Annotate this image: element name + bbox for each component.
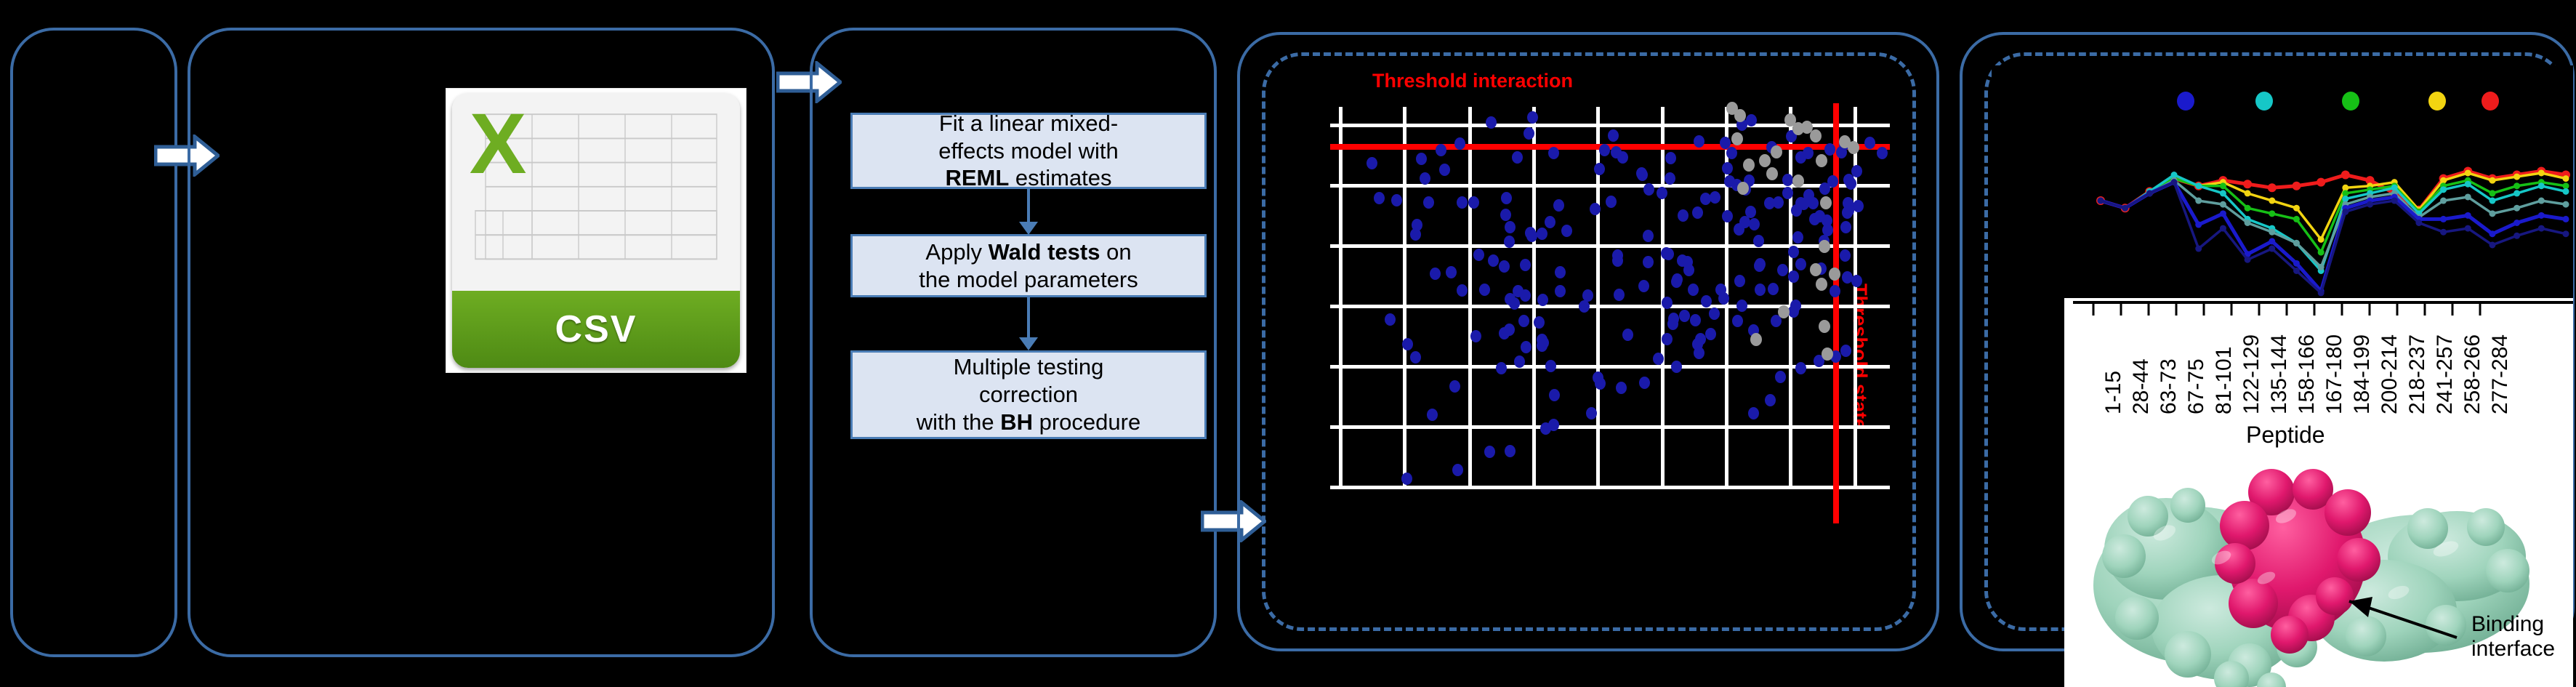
scatter-point-significant — [1639, 377, 1650, 389]
scatter-point-significant — [1537, 340, 1547, 352]
peptide-series-point — [2465, 181, 2471, 188]
peptide-y-tick-label: 0.0 — [2000, 282, 2032, 309]
scatter-point-significant — [1790, 300, 1801, 312]
peptide-series-point — [2195, 222, 2202, 228]
scatter-point-significant — [1616, 382, 1627, 394]
peptide-series-point — [2367, 201, 2373, 208]
scatter-point-significant — [1430, 268, 1441, 280]
scatter-point-significant — [1504, 324, 1515, 336]
scatter-point-significant — [1657, 187, 1667, 199]
scatter-point-significant — [1521, 341, 1531, 353]
scatter-point-significant — [1777, 264, 1788, 276]
peptide-series-point — [2269, 198, 2275, 204]
flow-step-wald-tests[interactable]: Apply Wald tests onthe model parameters — [850, 234, 1207, 297]
peptide-series-point — [2341, 171, 2350, 180]
peptide-series-point — [2513, 182, 2520, 189]
scatter-point-significant — [1614, 289, 1625, 301]
scatter-point-nonsignificant — [1792, 174, 1804, 188]
scatter-point-nonsignificant — [1737, 182, 1749, 195]
scatter-point-significant — [1734, 223, 1744, 236]
peptide-series-point — [2440, 229, 2447, 236]
peptide-series-point — [2293, 268, 2300, 274]
peptide-x-axis — [2064, 298, 2573, 327]
peptide-series-point — [2195, 198, 2202, 204]
peptide-tick-label: 200-214 — [2378, 334, 2402, 414]
flow-step-bh-correction[interactable]: Multiple testingcorrectionwith the BH pr… — [850, 350, 1207, 439]
peptide-series-point — [2146, 190, 2153, 196]
peptide-series-point — [2269, 229, 2275, 236]
scatter-point-significant — [1732, 315, 1743, 327]
scatter-point-significant — [1479, 284, 1490, 296]
scatter-point-significant — [1454, 137, 1465, 150]
csv-card: X CSV — [452, 93, 740, 368]
scatter-point-significant — [1864, 137, 1875, 149]
scatter-point-significant — [1683, 264, 1694, 276]
scatter-point-significant — [1446, 266, 1457, 278]
peptide-series-point — [2293, 205, 2300, 212]
scatter-point-nonsignificant — [1810, 129, 1822, 142]
gridline-v — [1403, 107, 1406, 489]
scatter-point-significant — [1840, 345, 1851, 357]
peptide-series-point — [2245, 220, 2251, 226]
scatter-point-nonsignificant — [1810, 263, 1822, 276]
peptide-tick-label: 184-199 — [2350, 334, 2375, 414]
scatter-point-significant — [1653, 353, 1664, 365]
peptide-inset-panel: 1-1528-4463-7367-7581-101122-129135-1441… — [2064, 298, 2573, 687]
peptide-tick-label: 258-266 — [2460, 334, 2485, 414]
peptide-axis-title: Peptide — [2246, 422, 2325, 449]
scatter-point-significant — [1734, 275, 1745, 287]
scatter-point-significant — [1412, 219, 1422, 231]
flow-connector-1 — [1027, 189, 1030, 225]
scatter-point-significant — [1853, 200, 1864, 212]
peptide-series-point — [2342, 209, 2348, 215]
peptide-series-point — [2245, 205, 2251, 212]
scatter-point-significant — [1705, 328, 1716, 340]
peptide-series-point — [2440, 198, 2447, 204]
scatter-point-nonsignificant — [1743, 158, 1755, 172]
scatter-point-significant — [1427, 409, 1438, 421]
flow-step-bh-correction-text: Multiple testingcorrectionwith the BH pr… — [917, 353, 1140, 435]
peptide-series-point — [2293, 216, 2300, 222]
gridline-v — [1339, 107, 1343, 489]
scatter-point-significant — [1638, 280, 1649, 292]
scatter-point-significant — [1518, 315, 1529, 327]
peptide-series-point — [2489, 190, 2495, 196]
peptide-series-point — [2220, 210, 2226, 217]
scatter-point-significant — [1505, 445, 1516, 457]
peptide-series-point — [2245, 190, 2251, 196]
scatter-point-nonsignificant — [1819, 320, 1830, 333]
peptide-series-point — [2098, 198, 2104, 204]
scatter-point-significant — [1599, 144, 1610, 156]
scatter-point-significant — [1643, 183, 1654, 196]
scatter-point-significant — [1468, 196, 1479, 209]
peptide-series-point — [2318, 236, 2325, 243]
scatter-point-significant — [1420, 172, 1430, 185]
csv-format-band: CSV — [452, 291, 740, 368]
scatter-point-significant — [1775, 371, 1786, 383]
peptide-series-point — [2513, 205, 2520, 212]
scatter-point-nonsignificant — [1819, 240, 1830, 253]
peptide-tick-label: 158-166 — [2295, 334, 2319, 414]
scatter-point-significant — [1374, 192, 1385, 204]
scatter-point-significant — [1555, 285, 1566, 297]
scatter-point-significant — [1527, 111, 1538, 124]
scatter-point-significant — [1792, 231, 1803, 244]
peptide-series-point — [2538, 212, 2545, 219]
peptide-series-point — [2220, 201, 2226, 208]
peptide-series-point — [2465, 193, 2471, 200]
scatter-point-significant — [1520, 259, 1531, 271]
peptide-tick-label: 28-44 — [2129, 358, 2154, 414]
scatter-plot: Threshold interaction Threshold state — [1330, 65, 1890, 531]
peptide-series-point — [2489, 241, 2495, 248]
scatter-point-significant — [1385, 313, 1396, 326]
scatter-point-significant — [1692, 206, 1703, 219]
peptide-series-point — [2489, 177, 2495, 184]
peptide-series-point — [2220, 190, 2226, 196]
scatter-point-significant — [1586, 407, 1597, 419]
scatter-point-nonsignificant — [1759, 154, 1771, 167]
scatter-point-significant — [1423, 196, 1434, 209]
threshold-state-line — [1833, 103, 1839, 523]
scatter-point-significant — [1795, 151, 1806, 164]
scatter-point-significant — [1622, 329, 1633, 341]
scatter-point-significant — [1410, 351, 1421, 363]
scatter-point-significant — [1488, 254, 1499, 267]
scatter-point-significant — [1715, 284, 1726, 296]
scatter-point-significant — [1582, 289, 1593, 302]
peptide-tick-label: 122-129 — [2239, 334, 2264, 414]
peptide-series-point — [2465, 169, 2471, 176]
scatter-point-significant — [1788, 270, 1799, 283]
peptide-series-point — [2465, 225, 2471, 232]
scatter-point-significant — [1661, 247, 1672, 260]
scatter-point-significant — [1484, 446, 1495, 458]
peptide-series-point — [2195, 182, 2202, 189]
scatter-point-nonsignificant — [1734, 109, 1746, 122]
scatter-point-significant — [1452, 464, 1463, 476]
flow-connector-1-arrowhead — [1019, 222, 1038, 235]
scatter-point-nonsignificant — [1750, 333, 1762, 346]
scatter-point-significant — [1667, 318, 1678, 330]
peptide-tick-label: 63-73 — [2157, 358, 2181, 414]
gridline-h — [1330, 486, 1890, 489]
scatter-point-significant — [1496, 362, 1507, 374]
binding-interface-line2: interface — [2471, 637, 2555, 662]
csv-format-label: CSV — [555, 308, 637, 351]
scatter-point-significant — [1671, 361, 1682, 373]
scatter-point-nonsignificant — [1848, 141, 1859, 154]
peptide-series-point — [2513, 190, 2520, 196]
scatter-point-significant — [1840, 221, 1851, 233]
gridline-v — [1468, 107, 1472, 489]
scatter-point-significant — [1690, 314, 1701, 326]
scatter-point-significant — [1549, 389, 1560, 401]
scatter-point-significant — [1526, 230, 1537, 242]
scatter-point-significant — [1473, 249, 1484, 261]
peptide-series-point — [2489, 230, 2495, 237]
scatter-point-significant — [1665, 152, 1676, 164]
scatter-point-significant — [1548, 147, 1559, 159]
scatter-point-significant — [1765, 394, 1776, 406]
peptide-series-point — [2513, 233, 2520, 239]
scatter-point-significant — [1803, 189, 1814, 201]
flow-step-fit-model-text: Fit a linear mixed-effects model withREM… — [938, 110, 1119, 192]
scatter-point-significant — [1726, 147, 1737, 159]
peptide-series-point — [2563, 201, 2569, 208]
scatter-point-significant — [1594, 163, 1605, 175]
scatter-point-nonsignificant — [1766, 167, 1778, 180]
peptide-series-point — [2268, 183, 2277, 192]
scatter-point-significant — [1755, 284, 1766, 296]
peptide-series-point — [2563, 188, 2569, 195]
peptide-series-point — [2440, 216, 2447, 222]
scatter-point-significant — [1617, 151, 1628, 164]
scatter-point-significant — [1795, 258, 1806, 270]
scatter-point-significant — [1534, 316, 1545, 329]
gridline-h — [1330, 244, 1890, 248]
scatter-point-significant — [1548, 419, 1559, 431]
peptide-series-point — [2513, 174, 2520, 180]
peptide-series-point — [2465, 212, 2471, 219]
peptide-series-point — [2489, 198, 2495, 204]
gridline-h — [1330, 305, 1890, 308]
scatter-point-significant — [1748, 407, 1759, 419]
scatter-point-significant — [1637, 169, 1648, 181]
peptide-series-point — [2269, 246, 2275, 252]
peptide-series-point — [2171, 179, 2178, 185]
scatter-point-significant — [1561, 225, 1572, 237]
scatter-point-significant — [1840, 249, 1851, 262]
csv-file-icon: X CSV — [446, 89, 746, 372]
peptide-series-point — [2292, 182, 2301, 190]
peptide-series-point — [2538, 169, 2545, 176]
scatter-point-significant — [1520, 289, 1531, 302]
peptide-series-point — [2243, 180, 2252, 188]
scatter-point-significant — [1701, 295, 1712, 308]
scatter-point-significant — [1500, 209, 1511, 221]
gridline-h — [1330, 184, 1890, 188]
peptide-series-point — [2245, 257, 2251, 263]
peptide-series-point — [2538, 182, 2545, 189]
scatter-point-significant — [1553, 199, 1564, 212]
scatter-point-significant — [1439, 164, 1450, 176]
scatter-point-significant — [1367, 157, 1377, 169]
scatter-point-significant — [1505, 221, 1516, 233]
scatter-point-significant — [1842, 271, 1853, 284]
scatter-point-significant — [1501, 192, 1512, 204]
peptide-series-point — [2122, 205, 2128, 212]
flow-connector-2 — [1027, 297, 1030, 341]
scatter-point-significant — [1643, 256, 1654, 268]
scatter-point-significant — [1457, 196, 1468, 209]
scatter-point-significant — [1606, 196, 1617, 208]
scatter-point-significant — [1590, 203, 1601, 215]
scatter-point-significant — [1795, 362, 1806, 374]
peptide-tick-label: 241-257 — [2433, 334, 2458, 414]
scatter-point-significant — [1512, 151, 1523, 164]
peptide-series-point — [2513, 220, 2520, 226]
scatter-point-significant — [1545, 216, 1555, 228]
scatter-point-significant — [1672, 273, 1683, 286]
scatter-point-significant — [1710, 191, 1720, 204]
scatter-point-significant — [1402, 338, 1413, 350]
scatter-point-significant — [1514, 355, 1525, 368]
peptide-series-point — [2415, 220, 2422, 226]
peptide-series-point — [2440, 186, 2447, 193]
peptide-tick-label: 1-15 — [2101, 371, 2126, 414]
peptide-series-point — [2538, 225, 2545, 232]
scatter-point-significant — [1665, 172, 1675, 185]
scatter-point-nonsignificant — [1816, 154, 1827, 167]
scatter-point-significant — [1843, 204, 1854, 217]
peptide-tick-label: 277-284 — [2488, 334, 2513, 414]
flow-step-fit-model[interactable]: Fit a linear mixed-effects model withREM… — [850, 113, 1207, 189]
scatter-point-nonsignificant — [1816, 278, 1827, 291]
excel-x-glyph: X — [470, 101, 527, 187]
binding-interface-annotation: Binding interface — [2471, 612, 2555, 661]
scatter-point-nonsignificant — [1731, 132, 1743, 145]
scatter-point-significant — [1722, 210, 1733, 222]
peptide-series-point — [2269, 238, 2275, 244]
scatter-point-significant — [1470, 330, 1481, 342]
peptide-series-point — [2391, 198, 2398, 204]
peptide-series-point — [2195, 246, 2202, 252]
scatter-point-significant — [1608, 129, 1619, 142]
peptide-series-point — [2220, 225, 2226, 232]
scatter-point-significant — [1457, 284, 1468, 297]
scatter-point-significant — [1416, 153, 1427, 165]
scatter-point-significant — [1524, 127, 1534, 140]
peptide-series-point — [2563, 230, 2569, 237]
scatter-point-significant — [1694, 135, 1704, 148]
scatter-point-significant — [1749, 218, 1760, 230]
scatter-point-nonsignificant — [1771, 145, 1782, 158]
scatter-point-significant — [1505, 293, 1516, 305]
scatter-point-significant — [1709, 308, 1720, 320]
scatter-point-nonsignificant — [1829, 268, 1840, 281]
scatter-point-significant — [1755, 258, 1766, 270]
panel-1-empty — [10, 28, 177, 657]
peptide-series-point — [2269, 210, 2275, 217]
flow-step-wald-tests-text: Apply Wald tests onthe model parameters — [919, 238, 1138, 294]
gridline-h — [1330, 425, 1890, 429]
scatter-point-significant — [1819, 182, 1830, 195]
scatter-point-significant — [1555, 266, 1566, 278]
scatter-point-significant — [1679, 310, 1690, 322]
scatter-point-significant — [1662, 333, 1673, 345]
peptide-series-point — [2563, 175, 2569, 182]
peptide-series-point — [2318, 289, 2325, 296]
scatter-point-significant — [1593, 371, 1603, 384]
scatter-point-significant — [1436, 144, 1446, 156]
peptide-series-point — [2293, 240, 2300, 246]
peptide-tick-label: 67-75 — [2184, 358, 2209, 414]
scatter-point-significant — [1695, 333, 1706, 345]
peptide-tick-label: 167-180 — [2322, 334, 2347, 414]
scatter-point-significant — [1401, 473, 1412, 485]
scatter-point-significant — [1746, 114, 1757, 126]
peptide-tick-label: 81-101 — [2212, 347, 2237, 414]
scatter-point-significant — [1736, 300, 1747, 312]
peptide-series-point — [2563, 216, 2569, 222]
peptide-series-point — [2220, 182, 2226, 189]
scatter-point-significant — [1579, 300, 1590, 313]
scatter-point-nonsignificant — [1778, 305, 1790, 318]
peptide-series-point — [2538, 198, 2545, 204]
scatter-point-significant — [1722, 162, 1733, 174]
scatter-point-significant — [1724, 175, 1735, 188]
binding-interface-line1: Binding — [2471, 612, 2555, 637]
workflow-figure: X CSV Fit a linear mixed-effects model w… — [0, 0, 2576, 687]
scatter-point-significant — [1678, 209, 1689, 222]
scatter-point-nonsignificant — [1822, 347, 1833, 361]
scatter-point-significant — [1851, 275, 1862, 287]
peptide-tick-label: 135-144 — [2267, 334, 2292, 414]
scatter-point-significant — [1449, 380, 1460, 393]
peptide-series-point — [2293, 260, 2300, 267]
flow-connector-2-arrowhead — [1019, 337, 1038, 350]
peptide-series-point — [2317, 178, 2325, 187]
scatter-point-significant — [1499, 260, 1510, 273]
gridline-v — [1789, 107, 1792, 489]
scatter-point-significant — [1391, 194, 1402, 206]
peptide-series-point — [2318, 264, 2325, 270]
scatter-point-significant — [1643, 230, 1654, 242]
gridline-v — [1532, 107, 1536, 489]
peptide-tick-label: 218-237 — [2405, 334, 2430, 414]
scatter-threshold-interaction-label: Threshold interaction — [1372, 70, 1573, 92]
scatter-point-significant — [1764, 197, 1775, 209]
scatter-point-significant — [1504, 236, 1515, 248]
scatter-point-significant — [1537, 228, 1547, 240]
scatter-point-significant — [1768, 283, 1779, 295]
scatter-point-significant — [1545, 360, 1556, 372]
scatter-point-nonsignificant — [1820, 196, 1832, 209]
peptide-series-point — [2489, 210, 2495, 217]
gridline-v — [1853, 107, 1857, 489]
peptide-series-point — [2318, 249, 2325, 256]
scatter-point-significant — [1877, 147, 1888, 159]
scatter-point-significant — [1788, 246, 1799, 258]
scatter-point-significant — [1745, 206, 1756, 218]
scatter-point-significant — [1688, 284, 1699, 296]
